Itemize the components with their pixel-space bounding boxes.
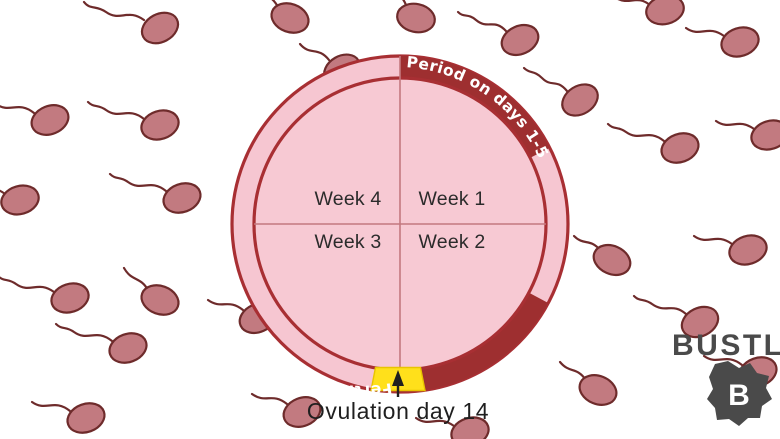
sperm-tail-icon [56,324,112,341]
sperm-cell [694,231,770,269]
sperm-tail-icon [634,296,686,314]
sperm-tail-icon [458,12,506,31]
sperm-cell [110,174,205,218]
sperm-tail-icon [524,68,567,91]
sperm-cell [686,23,762,61]
cycle-wheel: Period on days 1-5 Fertile days 9-15 Wee… [232,53,568,400]
sperm-cell [608,124,703,168]
sperm-cell [458,12,543,61]
sperm-head-icon [748,116,780,154]
bustle-wordmark: BUSTLE [672,329,780,362]
sperm-cell [616,0,687,28]
illustration-canvas: Period on days 1-5 Fertile days 9-15 Wee… [0,0,780,439]
sperm-head-icon [159,178,204,217]
sperm-cell [0,276,92,317]
quadrant-label-week-4: Week 4 [315,188,382,210]
sperm-tail-icon [208,300,243,310]
sperm-tail-icon [252,0,278,7]
sperm-tail-icon [616,0,650,5]
sperm-head-icon [726,231,771,269]
sperm-head-icon [497,19,543,60]
sperm-tail-icon [686,28,724,36]
sperm-head-icon [137,7,184,50]
sperm-head-icon [63,398,108,437]
sperm-head-icon [267,0,312,38]
sperm-tail-icon [84,2,144,20]
sperm-cell [56,324,151,368]
sperm-tail-icon [252,394,287,404]
sperm-tail-icon [124,268,148,290]
sperm-head-icon [27,100,73,140]
sperm-tail-icon [560,362,586,380]
sperm-tail-icon [574,236,600,250]
sperm-head-icon [0,181,42,218]
bustle-badge-letter: B [728,379,750,412]
sperm-cell [88,102,182,144]
sperm-tail-icon [300,44,329,60]
sperm-head-icon [48,279,93,317]
quadrant-label-week-3: Week 3 [315,231,382,253]
quadrant-label-week-1: Week 1 [419,188,486,210]
sperm-head-icon [556,78,603,122]
sperm-head-icon [657,128,702,167]
sperm-tail-icon [716,121,754,129]
sperm-cell [84,2,183,49]
sperm-tail-icon [0,276,54,292]
sperm-tail-icon [0,104,34,113]
cycle-diagram-svg: Period on days 1-5 Fertile days 9-15 Wee… [0,0,780,439]
sperm-head-icon [105,328,150,367]
sperm-head-icon [395,0,438,35]
sperm-cell [384,0,437,36]
sperm-cell [0,100,73,140]
sperm-tail-icon [32,402,70,411]
sperm-tail-icon [110,174,166,191]
bustle-logo: BUSTLE B [672,329,780,426]
sperm-tail-icon [88,102,144,119]
sperm-cell [560,362,621,410]
sperm-cell [574,236,635,281]
sperm-tail-icon [694,236,732,244]
sperm-head-icon [138,106,183,144]
sperm-cell [32,398,109,437]
sperm-head-icon [643,0,687,28]
sperm-head-icon [718,23,763,61]
sperm-cell [716,116,780,154]
sperm-tail-icon [384,0,406,5]
sperm-cell [524,68,604,122]
quadrant-label-week-2: Week 2 [419,231,486,253]
sperm-cell [0,181,42,218]
sperm-tail-icon [608,124,664,141]
sperm-cell [124,268,183,320]
sperm-cell [252,0,313,38]
ovulation-caption: Ovulation day 14 [307,398,489,424]
